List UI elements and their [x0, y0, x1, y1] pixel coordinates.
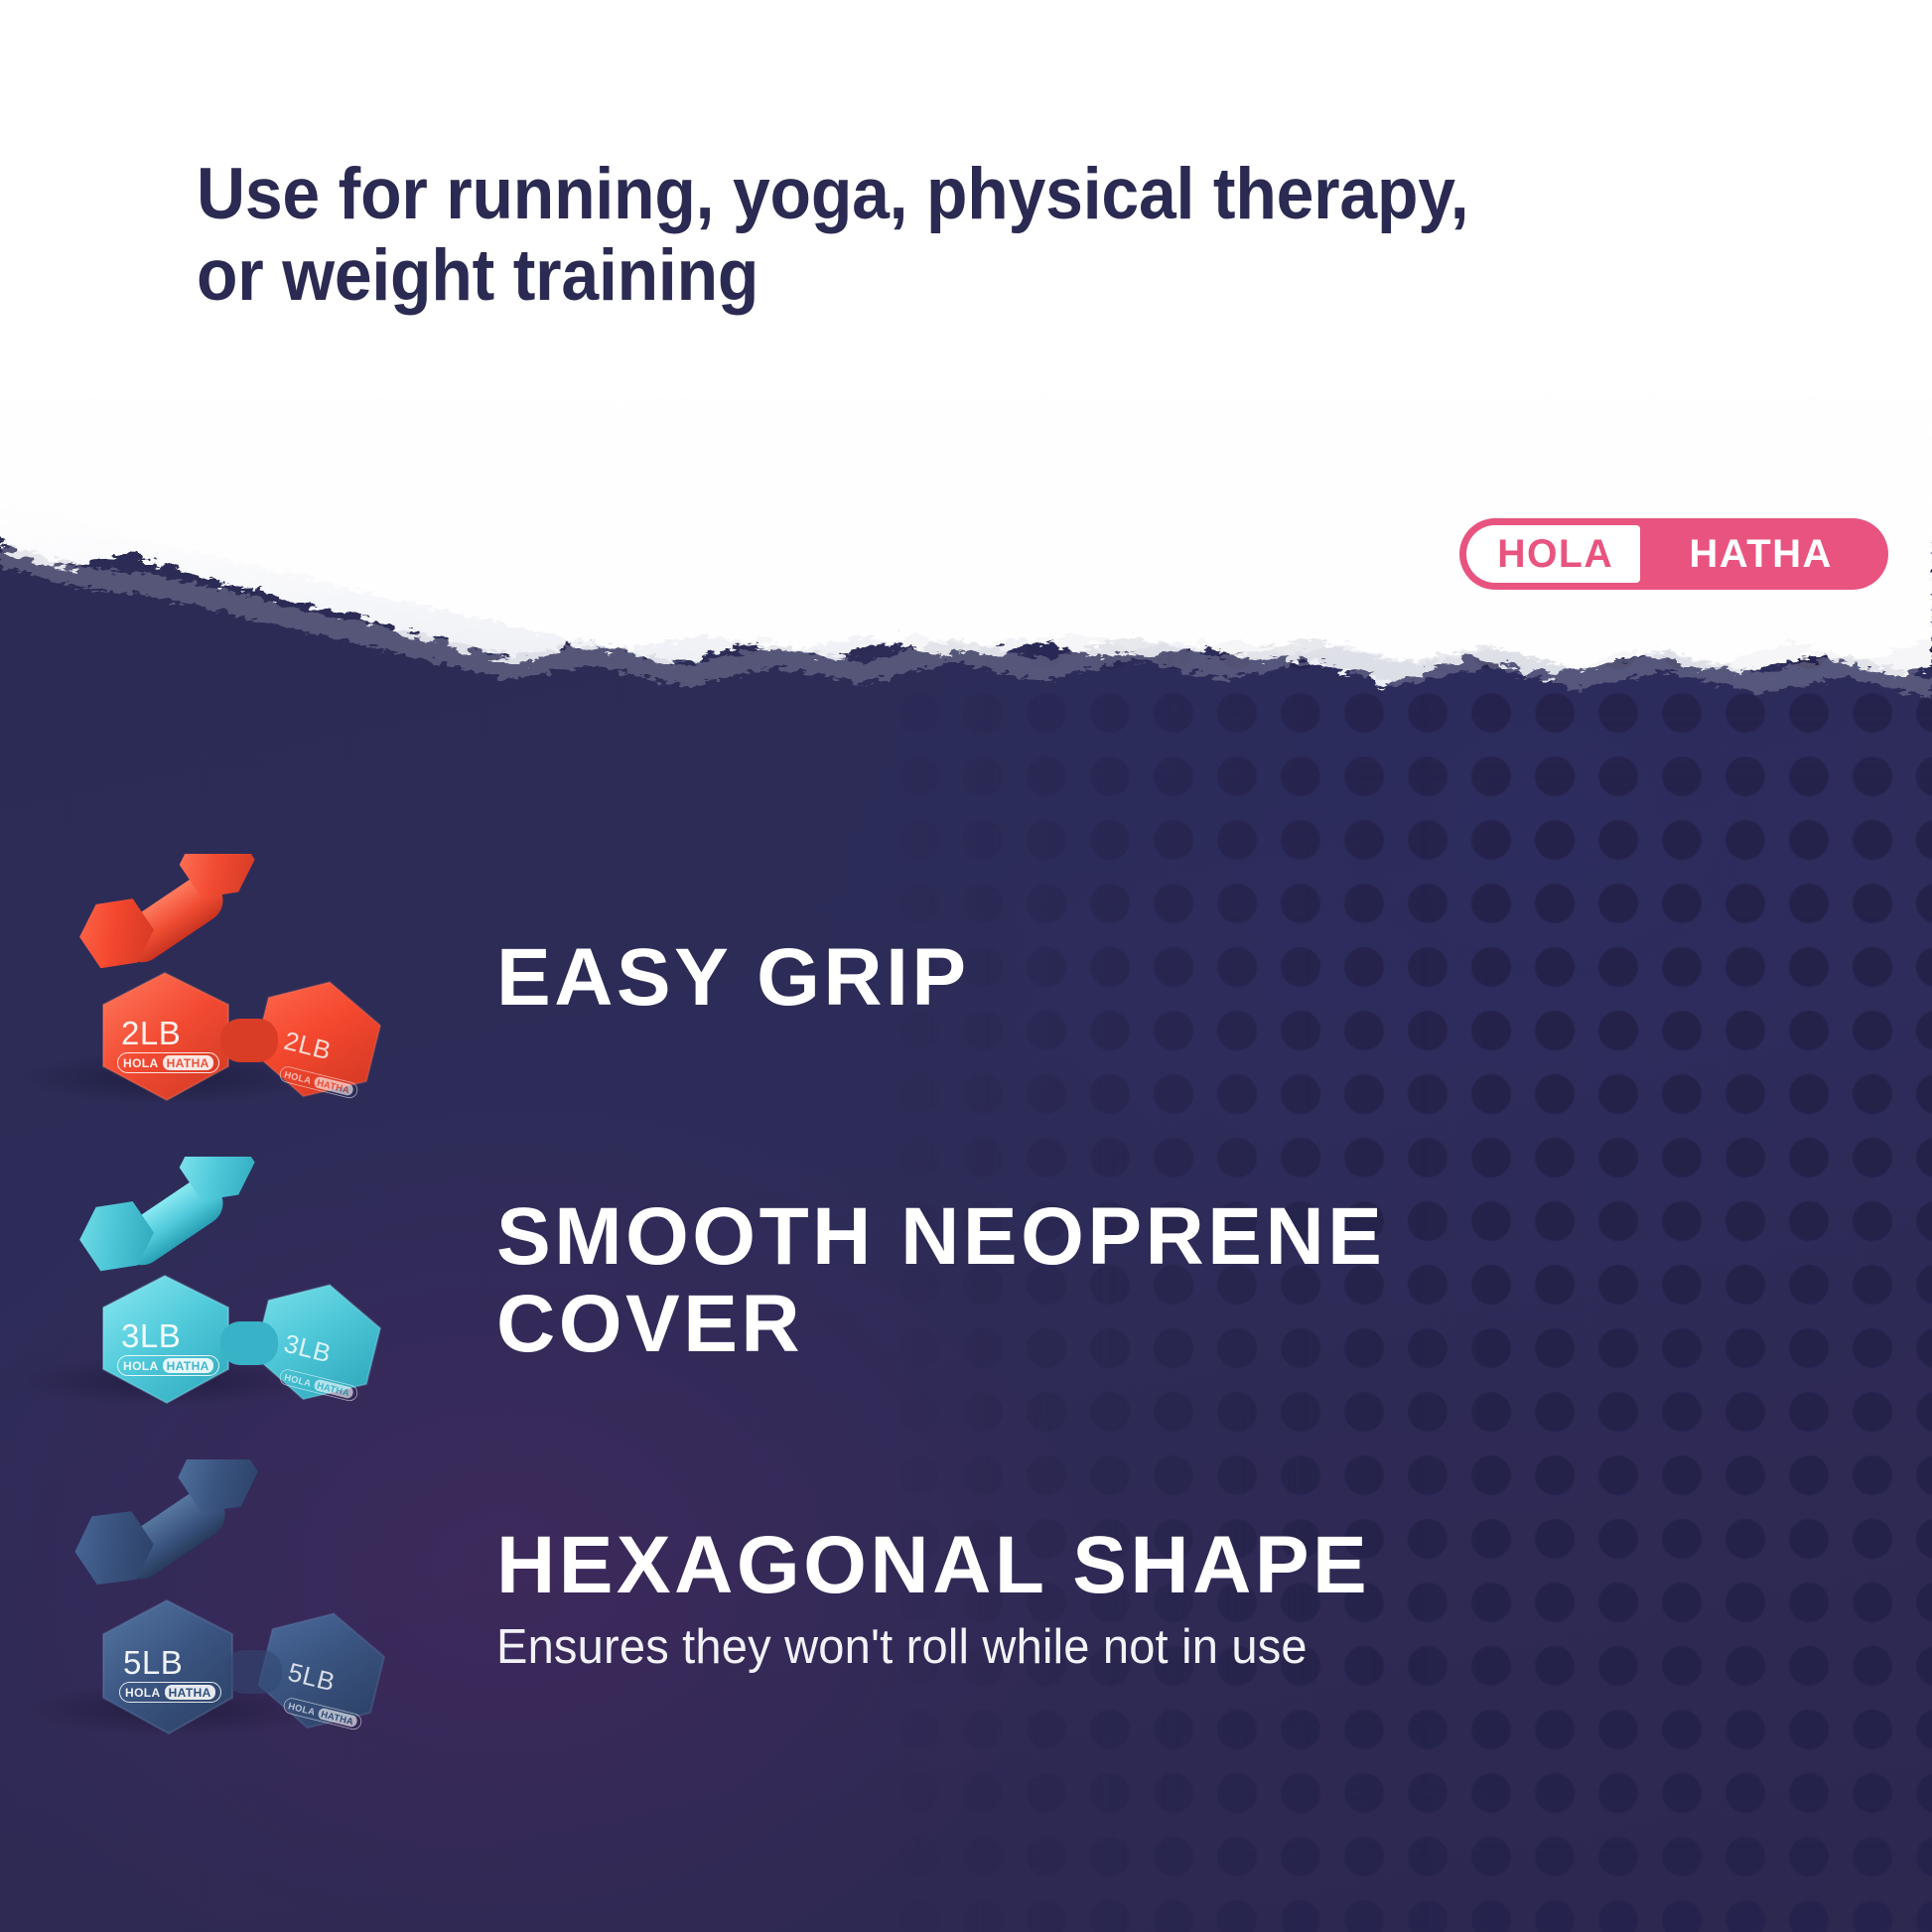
- dumbbell-pair-teal: 3LB HOLA HATHA 3LB HOLA HATHA: [0, 1157, 417, 1405]
- feature-row-smooth-neoprene-cover: 3LB HOLA HATHA 3LB HOLA HATHA SMOOTH NEO…: [0, 1157, 1932, 1405]
- brand-logo-right: HATHA: [1640, 534, 1881, 574]
- brand-name-hola: HOLA: [1497, 534, 1613, 574]
- feature-row-hexagonal-shape: 5LB HOLA HATHA 5LB HOLA HATHA HEXAGONAL …: [0, 1459, 1932, 1737]
- feature-text-hexagonal-shape: HEXAGONAL SHAPE Ensures they won't roll …: [417, 1522, 1932, 1675]
- feature-subtitle: Ensures they won't roll while not in use: [496, 1619, 1874, 1675]
- page-title: Use for running, yoga, physical therapy,…: [197, 154, 1508, 317]
- dumbbell-pair-navy: 5LB HOLA HATHA 5LB HOLA HATHA: [0, 1459, 417, 1737]
- feature-title: EASY GRIP: [496, 934, 1932, 1022]
- feature-row-easy-grip: 2LB HOLA HATHA 2LB HOLA HATHA EASY GRIP: [0, 854, 1932, 1102]
- feature-title: SMOOTH NEOPRENE COVER: [496, 1193, 1932, 1367]
- dumbbell-pair-red: 2LB HOLA HATHA 2LB HOLA HATHA: [0, 854, 417, 1102]
- feature-text-easy-grip: EASY GRIP: [417, 934, 1932, 1022]
- brand-logo-left: HOLA: [1466, 525, 1640, 583]
- brand-logo-badge: HOLA HATHA: [1459, 518, 1888, 590]
- brand-name-hatha: HATHA: [1689, 534, 1833, 574]
- feature-text-smooth-neoprene-cover: SMOOTH NEOPRENE COVER: [417, 1193, 1932, 1367]
- feature-title: HEXAGONAL SHAPE: [496, 1522, 1932, 1609]
- product-feature-graphic: Use for running, yoga, physical therapy,…: [0, 0, 1932, 1932]
